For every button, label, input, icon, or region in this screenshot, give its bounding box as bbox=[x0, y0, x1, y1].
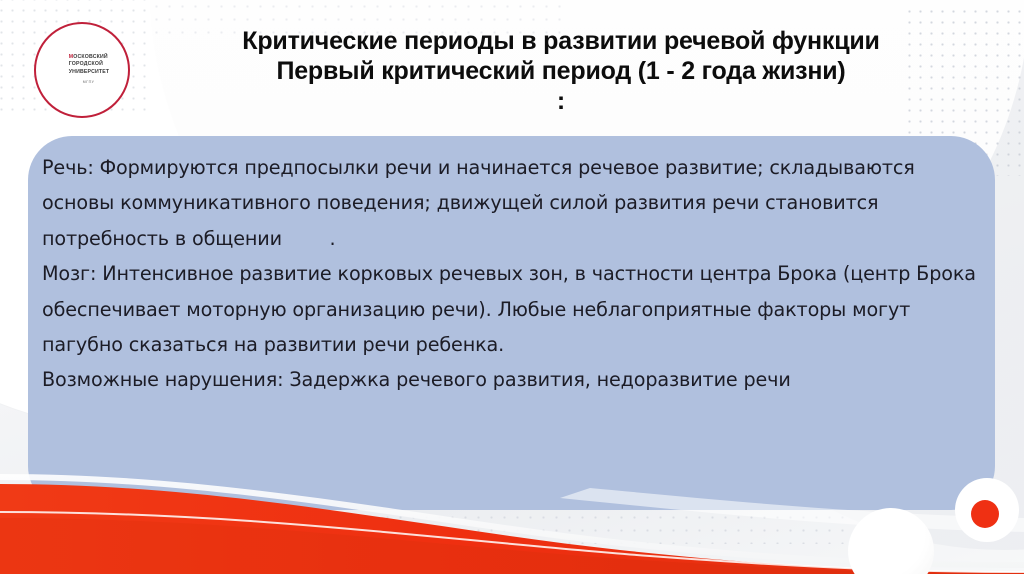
decorative-ring-circle bbox=[955, 478, 1019, 542]
university-logo: МОСКОВСКИЙ ГОРОДСКОЙ УНИВЕРСИТЕТ МГПУ bbox=[34, 22, 130, 118]
logo-text-block: МОСКОВСКИЙ ГОРОДСКОЙ УНИВЕРСИТЕТ МГПУ bbox=[69, 54, 110, 86]
logo-abbreviation: МГПУ bbox=[83, 79, 110, 87]
content-body-text: Речь: Формируются предпосылки речи и нач… bbox=[42, 150, 977, 398]
slide: МОСКОВСКИЙ ГОРОДСКОЙ УНИВЕРСИТЕТ МГПУ Кр… bbox=[0, 0, 1024, 574]
slide-title: Критические периоды в развитии речевой ф… bbox=[118, 26, 1004, 116]
logo-line1: ОСКОВСКИЙ bbox=[73, 54, 108, 60]
slide-title-line-2: Первый критический период (1 - 2 года жи… bbox=[118, 56, 1004, 86]
logo-line3: УНИВЕРСИТЕТ bbox=[69, 69, 110, 77]
slide-title-line-1: Критические периоды в развитии речевой ф… bbox=[118, 26, 1004, 56]
logo-line2: ГОРОДСКОЙ bbox=[69, 61, 110, 69]
slide-title-line-3: : bbox=[118, 86, 1004, 116]
